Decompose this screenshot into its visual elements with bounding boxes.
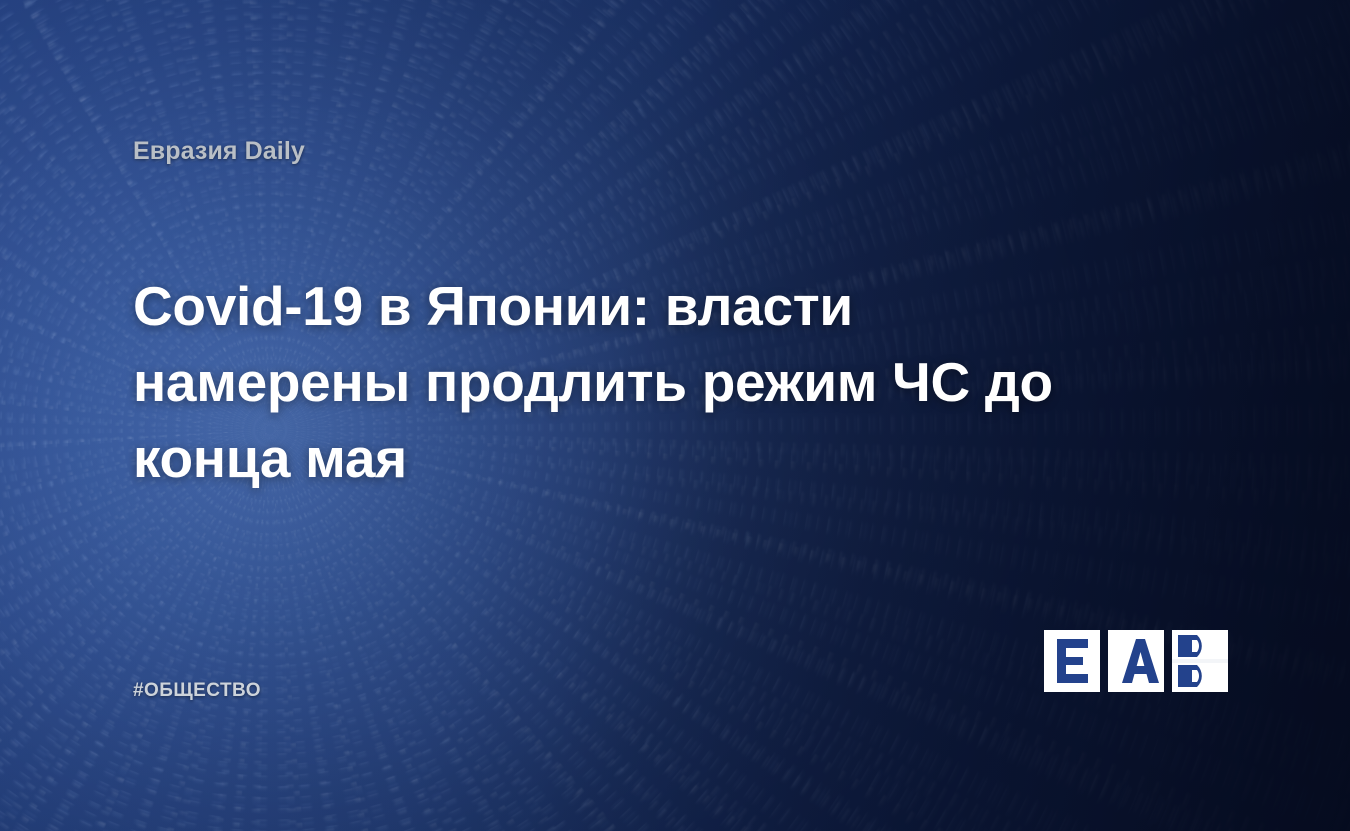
brand-letter-d-split <box>1172 659 1228 663</box>
news-share-card: Евразия Daily Covid-19 в Японии: власти … <box>0 0 1350 831</box>
headline: Covid-19 в Японии: власти намерены продл… <box>133 268 1143 496</box>
category-tag[interactable]: #ОБЩЕСТВО <box>133 680 261 702</box>
site-logo-wordmark[interactable]: Евразия Daily <box>133 137 305 166</box>
ead-brand-mark[interactable] <box>1044 630 1230 692</box>
card-content: Евразия Daily Covid-19 в Японии: власти … <box>0 0 1350 831</box>
